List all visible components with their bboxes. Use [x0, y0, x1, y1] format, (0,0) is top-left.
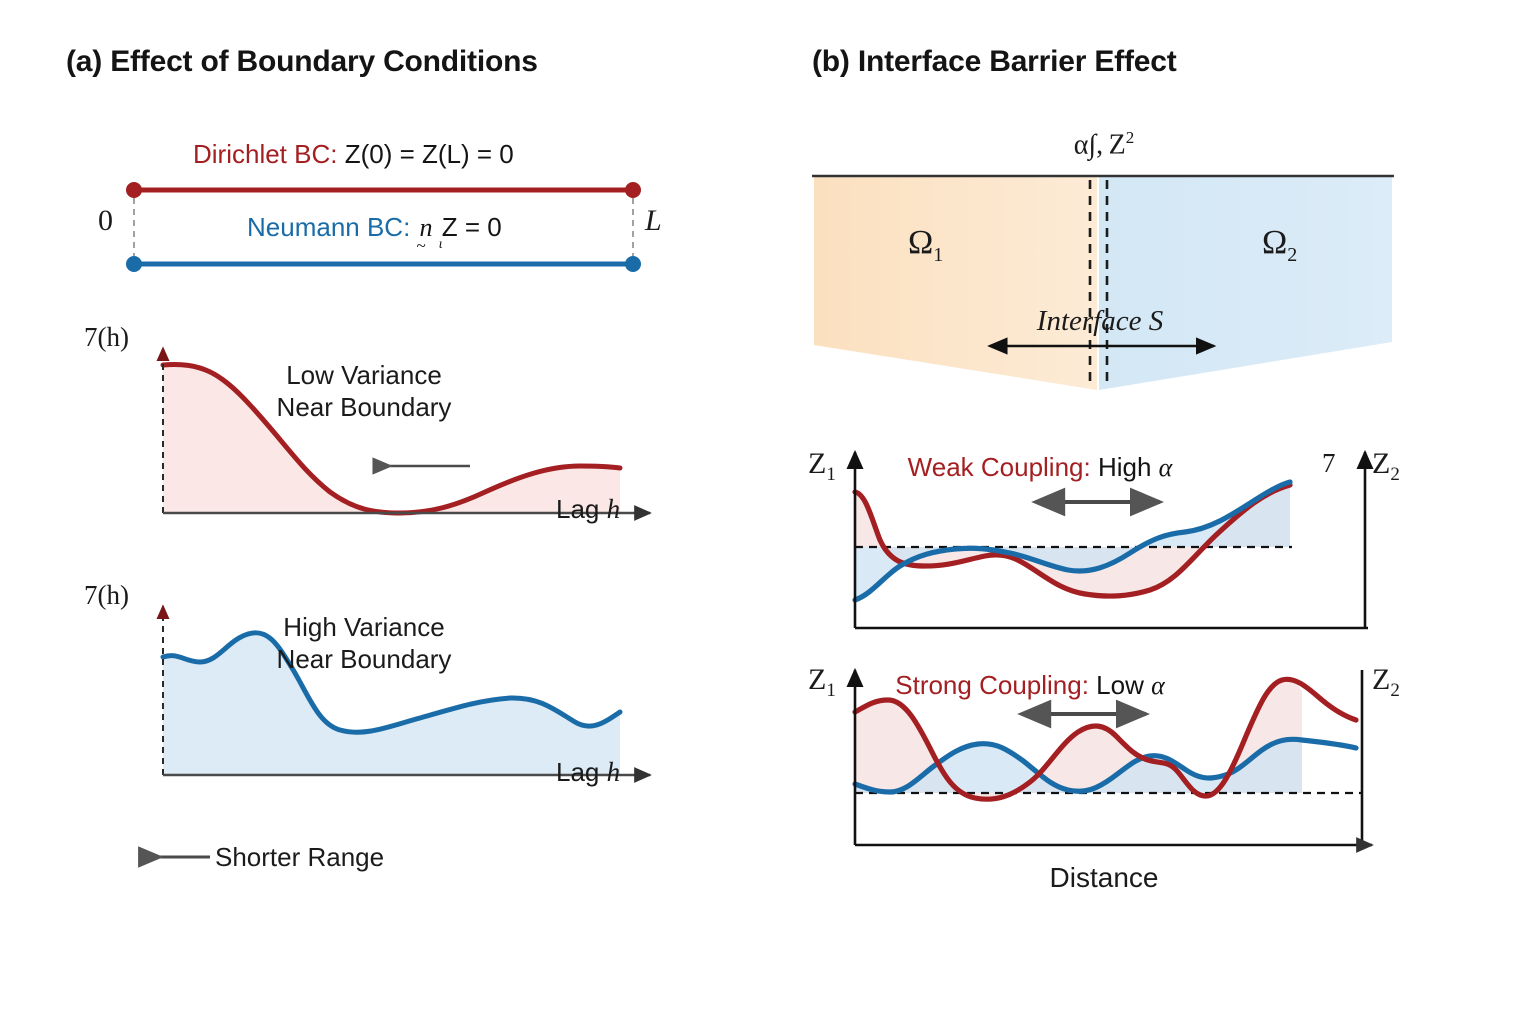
dirichlet-bc-name: Dirichlet BC:	[193, 139, 337, 169]
strong-z2-axis-label: Z2	[1372, 663, 1400, 702]
dirichlet-bc-expression: Z(0) = Z(L) = 0	[345, 139, 514, 169]
strong-curve-z2	[855, 739, 1356, 792]
strong-z2-symbol: Z	[1372, 663, 1390, 696]
neumann-bc-name: Neumann BC:	[247, 212, 410, 242]
omega-2-region	[1099, 177, 1392, 390]
strong-coupling-caption: Strong Coupling: Low α	[895, 670, 1165, 701]
weak-z2-axis-label: Z2	[1372, 447, 1400, 486]
figure-root: (a) Effect of Boundary Conditions (b) In…	[0, 0, 1536, 1024]
weak-coupling-caption: Weak Coupling: High α	[908, 452, 1173, 483]
neumann-normal-tilde-icon: ~	[417, 237, 426, 254]
omega-1-region	[814, 177, 1097, 390]
variogram-1-x-axis-label: Lag h	[556, 494, 620, 525]
weak-coupling-alpha-symbol: α	[1159, 453, 1173, 482]
omega-1-symbol: Ω	[908, 224, 933, 261]
weak-curve-z1	[855, 485, 1290, 596]
interface-label: Interface S	[1037, 305, 1163, 338]
strong-coupling-alpha-symbol: α	[1151, 671, 1165, 700]
weak-curve-z2	[855, 482, 1290, 600]
weak-z2-symbol: Z	[1372, 447, 1390, 480]
dirichlet-right-dot	[625, 182, 641, 198]
neumann-right-dot	[625, 256, 641, 272]
dirichlet-bc-label: Dirichlet BC: Z(0) = Z(L) = 0	[193, 139, 514, 170]
neumann-left-dot	[126, 256, 142, 272]
variogram-2-y-axis-label: 7(h)	[84, 580, 129, 611]
low-variance-line-2: Near Boundary	[277, 392, 452, 424]
strong-blue-fill	[855, 739, 1302, 793]
weak-coupling-caption-red: Weak Coupling:	[908, 452, 1091, 482]
strong-coupling-caption-red: Strong Coupling:	[895, 670, 1089, 700]
low-variance-line-1: Low Variance	[277, 360, 452, 392]
weak-z2-subscript: 2	[1390, 464, 1400, 485]
panel-a-title: (a) Effect of Boundary Conditions	[66, 45, 538, 79]
variogram-1-x-axis-var: h	[607, 494, 621, 524]
variogram-2-x-axis-var: h	[607, 757, 621, 787]
weak-gamma-glyph: 7	[1322, 448, 1336, 479]
penalty-integral-subscript: ,	[1096, 129, 1103, 160]
variogram-1-y-axis-label: 7(h)	[84, 322, 129, 353]
weak-z1-axis-label: Z1	[808, 447, 836, 486]
domain-right-endpoint-label: L	[645, 204, 662, 238]
variogram-2-x-axis-label: Lag h	[556, 757, 620, 788]
panel-b-title: (b) Interface Barrier Effect	[812, 45, 1177, 79]
weak-z1-subscript: 1	[826, 464, 836, 485]
domain-diagram	[812, 176, 1394, 390]
variogram-2-x-axis-prefix: Lag	[556, 757, 607, 787]
penalty-field-symbol: Z	[1109, 129, 1126, 160]
penalty-alpha-symbol: α	[1074, 129, 1089, 160]
distance-axis-label: Distance	[1050, 862, 1159, 894]
omega-2-label: Ω2	[1262, 224, 1297, 267]
variogram-1-x-axis-prefix: Lag	[556, 494, 607, 524]
weak-z1-symbol: Z	[808, 447, 826, 480]
interface-penalty-formula: α∫, Z2	[1074, 128, 1135, 161]
weak-red-fill	[855, 485, 1290, 596]
neumann-bc-label: Neumann BC: n~ι Z = 0	[247, 212, 502, 243]
high-variance-line-2: Near Boundary	[277, 644, 452, 676]
dirichlet-left-dot	[126, 182, 142, 198]
high-variance-line-1: High Variance	[277, 612, 452, 644]
shorter-range-legend-label: Shorter Range	[215, 842, 384, 873]
neumann-normal-subscript: ι	[439, 237, 443, 253]
omega-1-label: Ω1	[908, 224, 943, 267]
strong-z1-axis-label: Z1	[808, 663, 836, 702]
omega-1-subscript: 1	[933, 244, 943, 266]
omega-2-subscript: 2	[1287, 244, 1297, 266]
strong-coupling-caption-black: Low	[1096, 670, 1151, 700]
high-variance-annotation: High Variance Near Boundary	[277, 612, 452, 675]
strong-z2-subscript: 2	[1390, 680, 1400, 701]
penalty-exponent: 2	[1126, 128, 1135, 147]
weak-blue-fill	[855, 482, 1290, 600]
strong-z1-symbol: Z	[808, 663, 826, 696]
neumann-normal-vector: n~ι	[418, 213, 435, 243]
domain-left-endpoint-label: 0	[98, 204, 113, 238]
low-variance-annotation: Low Variance Near Boundary	[277, 360, 452, 423]
strong-z1-subscript: 1	[826, 680, 836, 701]
weak-coupling-caption-black: High	[1098, 452, 1159, 482]
neumann-bc-expression: Z = 0	[442, 212, 502, 242]
omega-2-symbol: Ω	[1262, 224, 1287, 261]
